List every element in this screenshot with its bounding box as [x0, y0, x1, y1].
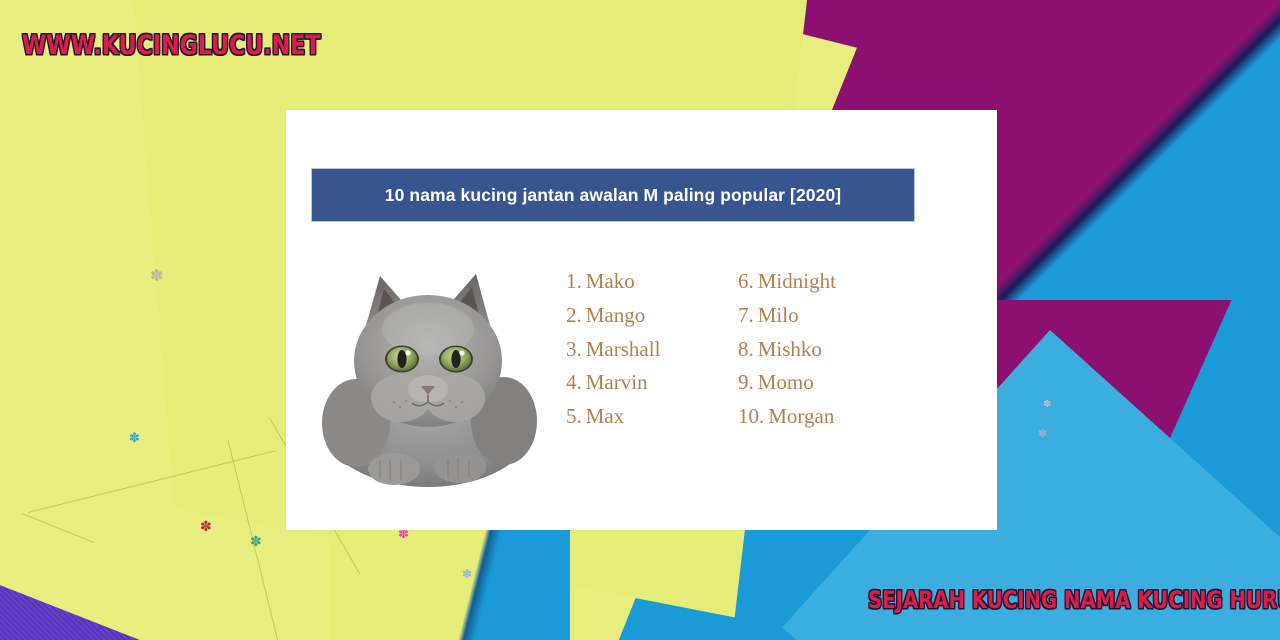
name-list-item: 7.Milo [738, 299, 910, 333]
name-list-item: 1.Mako [566, 265, 738, 299]
name-list-item-number: 4. [566, 370, 582, 394]
name-list-item-name: Marshall [586, 337, 661, 361]
name-list-item-number: 9. [738, 370, 754, 394]
name-list-item-name: Milo [758, 303, 799, 327]
name-list-item-name: Mango [586, 303, 646, 327]
confetti-star-icon: ✽ [200, 520, 212, 534]
confetti-star-icon: ✽ [250, 535, 262, 549]
name-list-item: 5.Max [566, 400, 738, 434]
name-list-item-number: 7. [738, 303, 754, 327]
name-list-item-name: Max [586, 404, 625, 428]
name-list-item: 4.Marvin [566, 366, 738, 400]
name-list-item: 10.Morgan [738, 400, 910, 434]
name-list-item-name: Morgan [768, 404, 834, 428]
screenshot-canvas: ✽✽✽✽✽✽✽✽✽✽✽ 10 nama kucing jantan awalan… [0, 0, 1280, 640]
name-list-item-name: Momo [758, 370, 814, 394]
name-list-column-right: 6.Midnight7.Milo8.Mishko9.Momo10.Morgan [738, 265, 910, 434]
confetti-star-icon: ✽ [462, 568, 472, 580]
name-list-item-name: Mishko [758, 337, 822, 361]
name-list-item-name: Marvin [586, 370, 648, 394]
background-magenta-edge [995, 0, 1280, 300]
name-list-item: 2.Mango [566, 299, 738, 333]
background-envelope-crease [330, 520, 570, 640]
name-list-item-number: 2. [566, 303, 582, 327]
card-title-banner: 10 nama kucing jantan awalan M paling po… [311, 168, 915, 222]
confetti-star-icon: ✽ [150, 268, 163, 284]
name-list-item-number: 5. [566, 404, 582, 428]
name-list-item-number: 1. [566, 269, 582, 293]
name-list-item-number: 8. [738, 337, 754, 361]
grey-cat-photo [308, 255, 548, 495]
name-list-item: 6.Midnight [738, 265, 910, 299]
confetti-star-icon: ✽ [1043, 400, 1051, 410]
site-watermark-top: WWW.KUCINGLUCU.NET [22, 30, 320, 61]
confetti-star-icon: ✽ [1038, 428, 1047, 439]
cat-name-list: 1.Mako2.Mango3.Marshall4.Marvin5.Max 6.M… [566, 265, 966, 434]
name-list-column-left: 1.Mako2.Mango3.Marshall4.Marvin5.Max [566, 265, 738, 434]
info-card: 10 nama kucing jantan awalan M paling po… [286, 110, 997, 530]
name-list-item-name: Mako [586, 269, 635, 293]
name-list-item-name: Midnight [758, 269, 836, 293]
name-list-item: 9.Momo [738, 366, 910, 400]
name-list-item-number: 10. [738, 404, 764, 428]
caption-watermark-bottom: SEJARAH KUCING NAMA KUCING HURUF M [868, 586, 1280, 614]
card-title-text: 10 nama kucing jantan awalan M paling po… [385, 185, 841, 206]
name-list-item-number: 3. [566, 337, 582, 361]
name-list-item-number: 6. [738, 269, 754, 293]
name-list-item: 8.Mishko [738, 333, 910, 367]
confetti-star-icon: ✽ [129, 432, 140, 445]
name-list-item: 3.Marshall [566, 333, 738, 367]
